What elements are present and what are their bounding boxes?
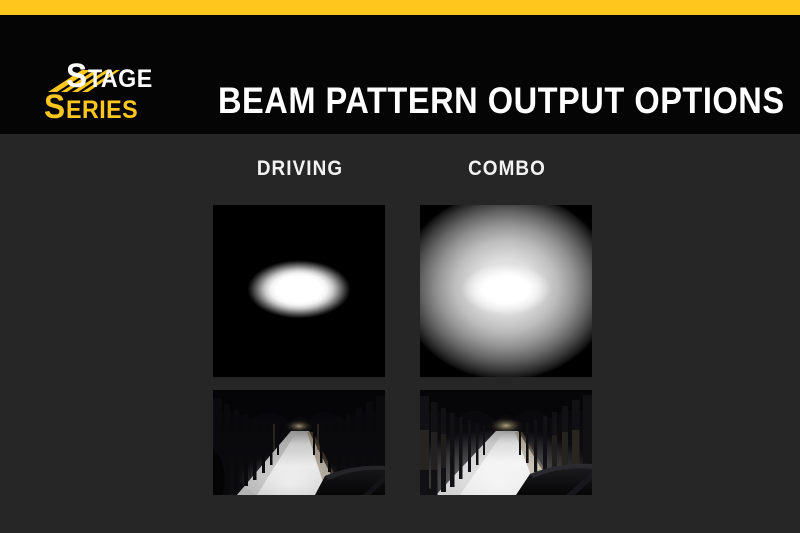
bottom-filler — [0, 495, 800, 533]
content-area: DRIVING — [0, 134, 800, 533]
driving-road-photo — [213, 390, 385, 495]
svg-text:S: S — [66, 56, 87, 94]
svg-text:S: S — [44, 87, 65, 125]
driving-beam-pattern — [213, 205, 385, 377]
driving-beam-glow — [213, 205, 385, 377]
svg-text:ERIES: ERIES — [66, 96, 138, 124]
column-label-driving: DRIVING — [222, 157, 379, 181]
page-title: BEAM PATTERN OUTPUT OPTIONS — [218, 77, 711, 125]
combo-road-photo — [420, 390, 592, 495]
svg-text:TAGE: TAGE — [88, 65, 153, 93]
header-band: S TAGE S ERIES BEAM PATTERN OUTPUT OPTIO… — [0, 15, 800, 134]
top-accent-bar — [0, 0, 800, 15]
column-label-combo: COMBO — [429, 157, 586, 181]
stage-series-logo: S TAGE S ERIES — [24, 48, 184, 126]
combo-beam-pattern — [420, 205, 592, 377]
combo-beam-glow — [420, 205, 592, 377]
